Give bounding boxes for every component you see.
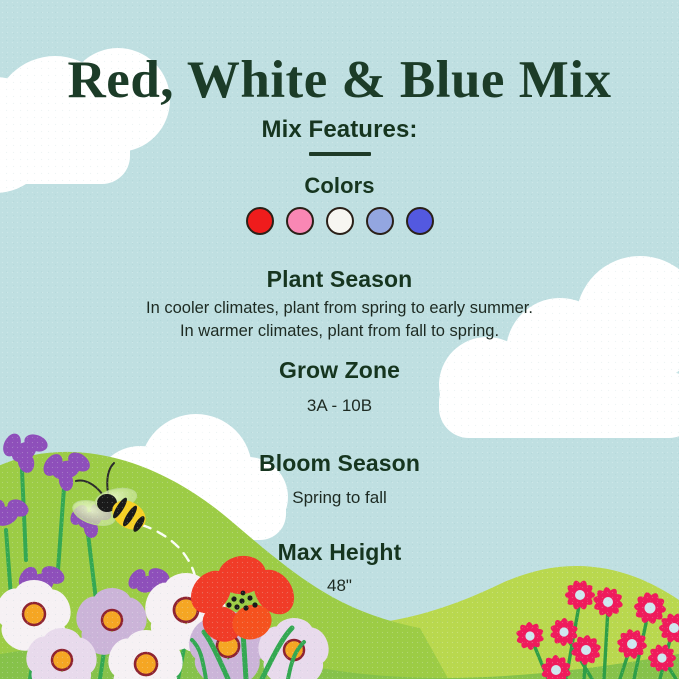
swatch-red [246,207,274,235]
swatch-white [326,207,354,235]
colors-heading: Colors [0,172,679,200]
heading-divider [309,152,371,156]
plant-season-line-2: In warmer climates, plant from fall to s… [0,320,679,343]
grow-zone-heading: Grow Zone [0,357,679,384]
max-height-value: 48" [0,576,679,596]
color-swatch-list [0,207,679,235]
grow-zone-value: 3A - 10B [0,396,679,416]
swatch-blue [406,207,434,235]
bloom-season-heading: Bloom Season [0,450,679,477]
text-content-layer: Red, White & Blue Mix Mix Features: Colo… [0,0,679,679]
page-title: Red, White & Blue Mix [0,48,679,112]
seed-mix-info-card: Red, White & Blue Mix Mix Features: Colo… [0,0,679,679]
swatch-pink [286,207,314,235]
max-height-heading: Max Height [0,539,679,566]
swatch-light-blue [366,207,394,235]
bloom-season-value: Spring to fall [0,488,679,508]
plant-season-heading: Plant Season [0,266,679,293]
plant-season-line-1: In cooler climates, plant from spring to… [0,297,679,320]
mix-features-heading: Mix Features: [0,115,679,145]
plant-season-text: In cooler climates, plant from spring to… [0,297,679,343]
